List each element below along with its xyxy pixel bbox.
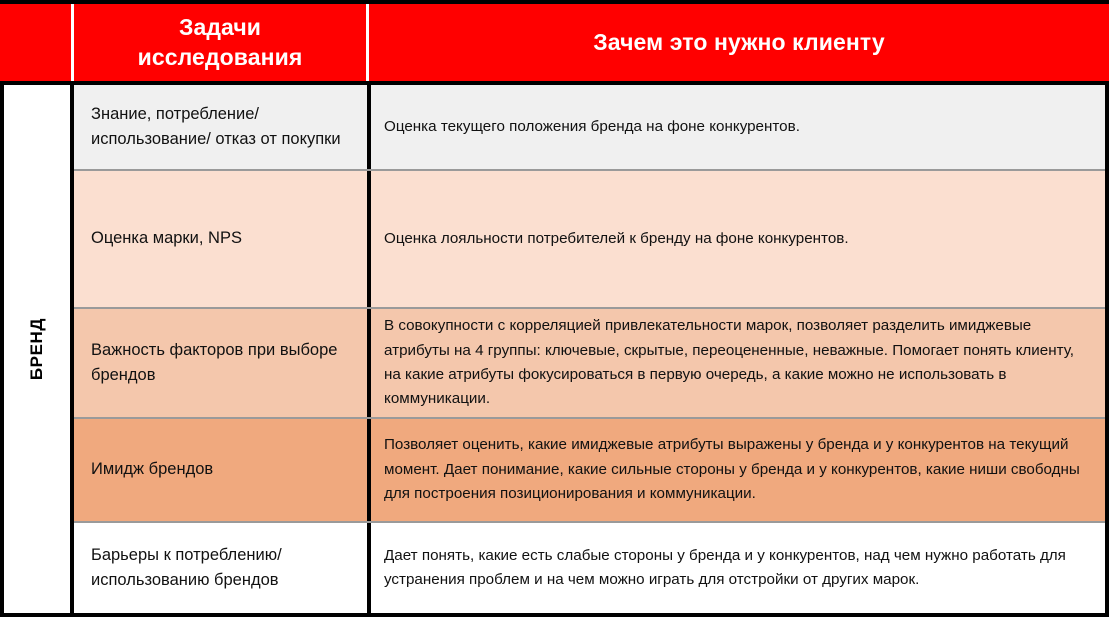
why-text: Позволяет оценить, какие имиджевые атриб… (384, 433, 1087, 506)
group-column-brand: БРЕНД (4, 85, 74, 613)
task-text: Важность факторов при выборе брендов (91, 338, 351, 388)
cell-why: Оценка текущего положения бренда на фоне… (371, 85, 1105, 169)
table-row: Имидж брендов Позволяет оценить, какие и… (74, 419, 1105, 523)
header-cell-why: Зачем это нужно клиенту (369, 4, 1109, 81)
header-tasks-line2: исследования (138, 43, 303, 72)
table-row: Важность факторов при выборе брендов В с… (74, 309, 1105, 419)
header-group-spacer (0, 4, 74, 81)
cell-task: Барьеры к потреблению/ использованию бре… (74, 523, 371, 613)
table-row: Барьеры к потреблению/ использованию бре… (74, 523, 1105, 613)
header-cell-tasks: Задачи исследования (74, 4, 369, 81)
table-body: БРЕНД Знание, потребление/ использование… (0, 85, 1109, 617)
cell-why: Позволяет оценить, какие имиджевые атриб… (371, 419, 1105, 521)
cell-why: Оценка лояльности потребителей к бренду … (371, 171, 1105, 307)
cell-task: Имидж брендов (74, 419, 371, 521)
table-header-row: Задачи исследования Зачем это нужно клие… (0, 0, 1109, 85)
task-text: Имидж брендов (91, 457, 213, 482)
cell-why: Дает понять, какие есть слабые стороны у… (371, 523, 1105, 613)
why-text: Оценка лояльности потребителей к бренду … (384, 227, 849, 251)
cell-task: Знание, потребление/ использование/ отка… (74, 85, 371, 169)
header-tasks-label: Задачи исследования (138, 13, 303, 72)
research-tasks-table: Задачи исследования Зачем это нужно клие… (0, 0, 1109, 617)
table-row: Оценка марки, NPS Оценка лояльности потр… (74, 171, 1105, 309)
table-row: Знание, потребление/ использование/ отка… (74, 85, 1105, 171)
cell-task: Важность факторов при выборе брендов (74, 309, 371, 417)
cell-why: В совокупности с корреляцией привлекател… (371, 309, 1105, 417)
group-label-brand: БРЕНД (27, 318, 47, 380)
task-text: Оценка марки, NPS (91, 226, 242, 251)
cell-task: Оценка марки, NPS (74, 171, 371, 307)
header-why-label: Зачем это нужно клиенту (593, 28, 884, 57)
why-text: В совокупности с корреляцией привлекател… (384, 314, 1087, 411)
rows-container: Знание, потребление/ использование/ отка… (74, 85, 1105, 613)
why-text: Дает понять, какие есть слабые стороны у… (384, 544, 1087, 593)
task-text: Знание, потребление/ использование/ отка… (91, 102, 351, 152)
why-text: Оценка текущего положения бренда на фоне… (384, 115, 800, 139)
task-text: Барьеры к потреблению/ использованию бре… (91, 543, 351, 593)
header-tasks-line1: Задачи (138, 13, 303, 42)
